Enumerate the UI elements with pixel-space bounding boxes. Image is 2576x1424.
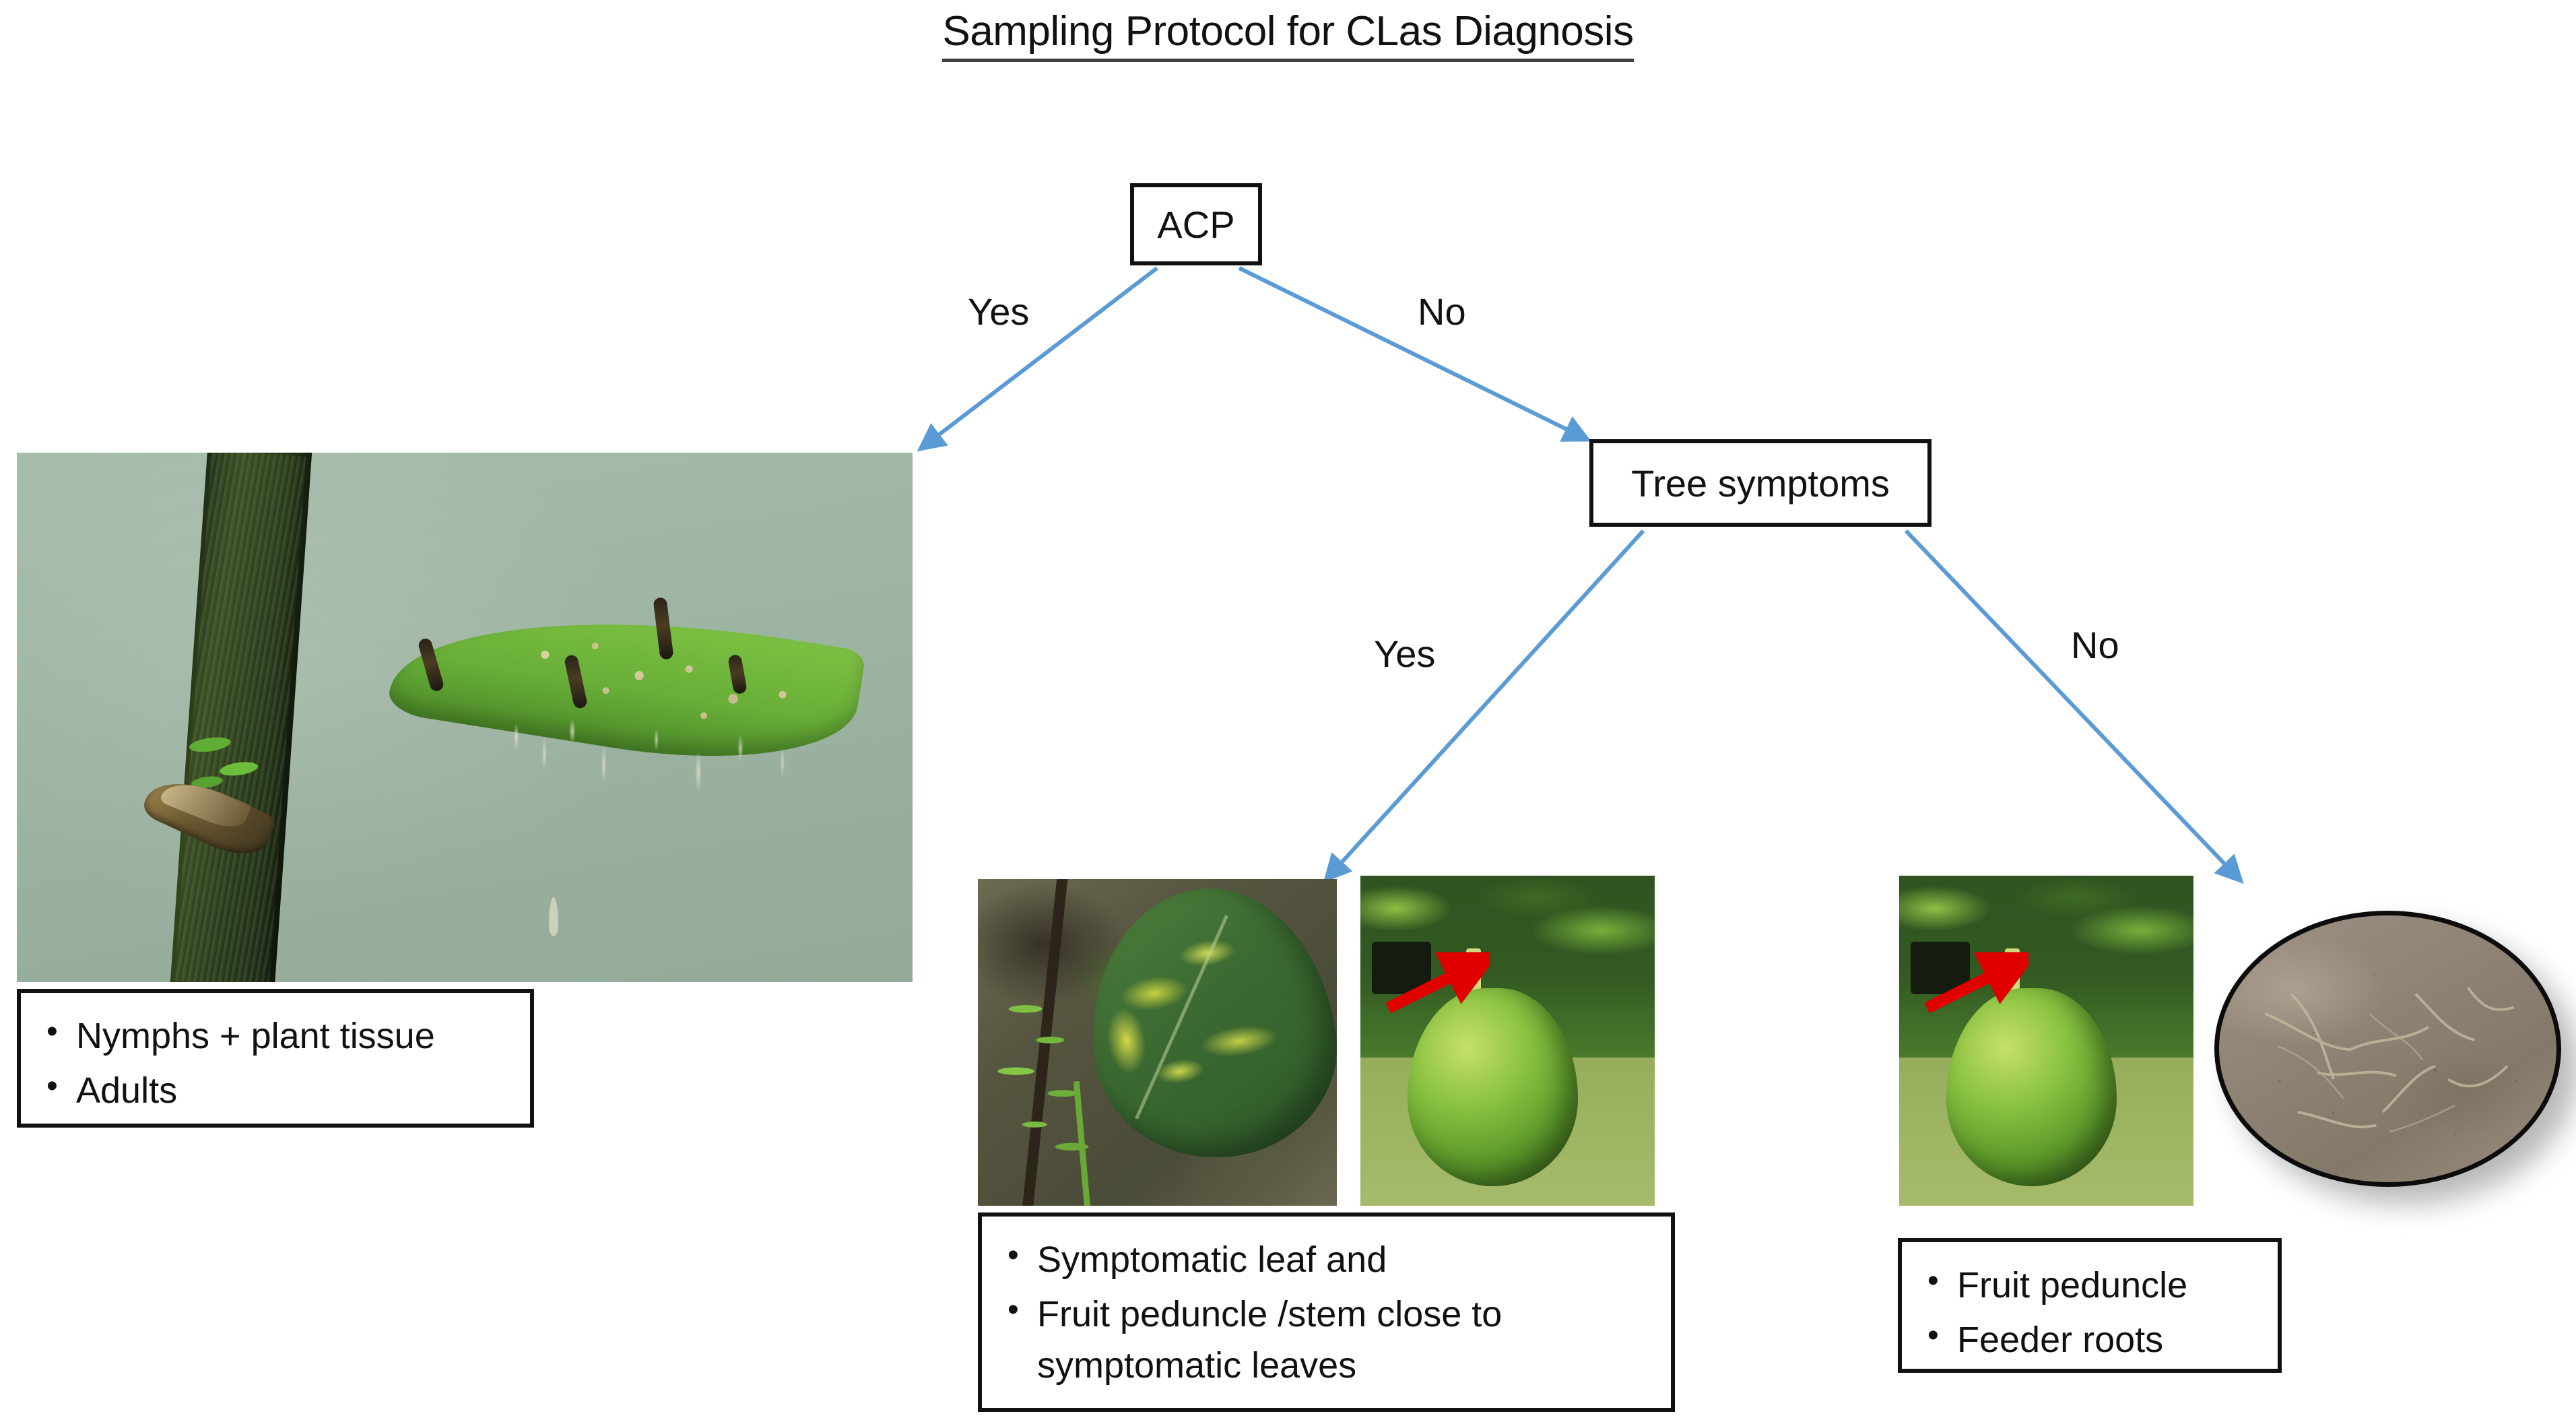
sample-box-acp: Nymphs + plant tissue Adults	[17, 989, 534, 1128]
flow-node-tree-symptoms[interactable]: Tree symptoms	[1589, 439, 1931, 527]
red-arrow-icon	[1384, 948, 1490, 1021]
edge-label-tree-no: No	[2071, 623, 2119, 667]
sample-list-acp: Nymphs + plant tissue Adults	[44, 1010, 510, 1116]
flow-node-acp[interactable]: ACP	[1130, 183, 1262, 265]
sample-box-symptomatic: Symptomatic leaf and Fruit peduncle /ste…	[978, 1212, 1675, 1412]
photo-feeder-roots	[2214, 911, 2561, 1187]
honeydew-droplet	[549, 897, 558, 936]
feeder-root-strands	[2219, 915, 2556, 1184]
photo-acp-psyllids	[17, 453, 913, 982]
sample-list-asymptomatic: Fruit peduncle Feeder roots	[1925, 1260, 2257, 1365]
arrow-tree-yes	[1331, 531, 1643, 874]
sample-list-symptomatic: Symptomatic leaf and Fruit peduncle /ste…	[1005, 1234, 1651, 1392]
arrow-tree-no	[1906, 531, 2236, 876]
edge-label-acp-no: No	[1418, 290, 1466, 333]
list-item: Fruit peduncle	[1925, 1260, 2257, 1312]
page-title: Sampling Protocol for CLas Diagnosis	[0, 7, 2576, 57]
flow-node-tree-symptoms-label: Tree symptoms	[1631, 461, 1890, 505]
list-item: Feeder roots	[1925, 1314, 2257, 1366]
photo-fruit-peduncle-left	[1360, 876, 1655, 1206]
edge-label-tree-yes: Yes	[1374, 632, 1435, 676]
edge-label-acp-yes: Yes	[968, 290, 1029, 333]
list-item: Fruit peduncle /stem close to symptomati…	[1005, 1289, 1651, 1392]
page-title-text: Sampling Protocol for CLas Diagnosis	[942, 8, 1633, 62]
honeydew-strands	[488, 709, 838, 850]
list-item: Symptomatic leaf and	[1005, 1234, 1651, 1286]
photo-fruit-peduncle-right	[1899, 876, 2193, 1206]
sample-box-asymptomatic: Fruit peduncle Feeder roots	[1898, 1238, 2282, 1373]
arrow-acp-no	[1239, 268, 1581, 436]
photo-symptomatic-leaf	[978, 879, 1337, 1206]
red-arrow-icon	[1923, 948, 2028, 1021]
arrow-acp-yes	[926, 268, 1157, 445]
flow-node-acp-label: ACP	[1157, 203, 1234, 247]
list-item: Nymphs + plant tissue	[44, 1010, 510, 1062]
list-item: Adults	[44, 1065, 510, 1117]
